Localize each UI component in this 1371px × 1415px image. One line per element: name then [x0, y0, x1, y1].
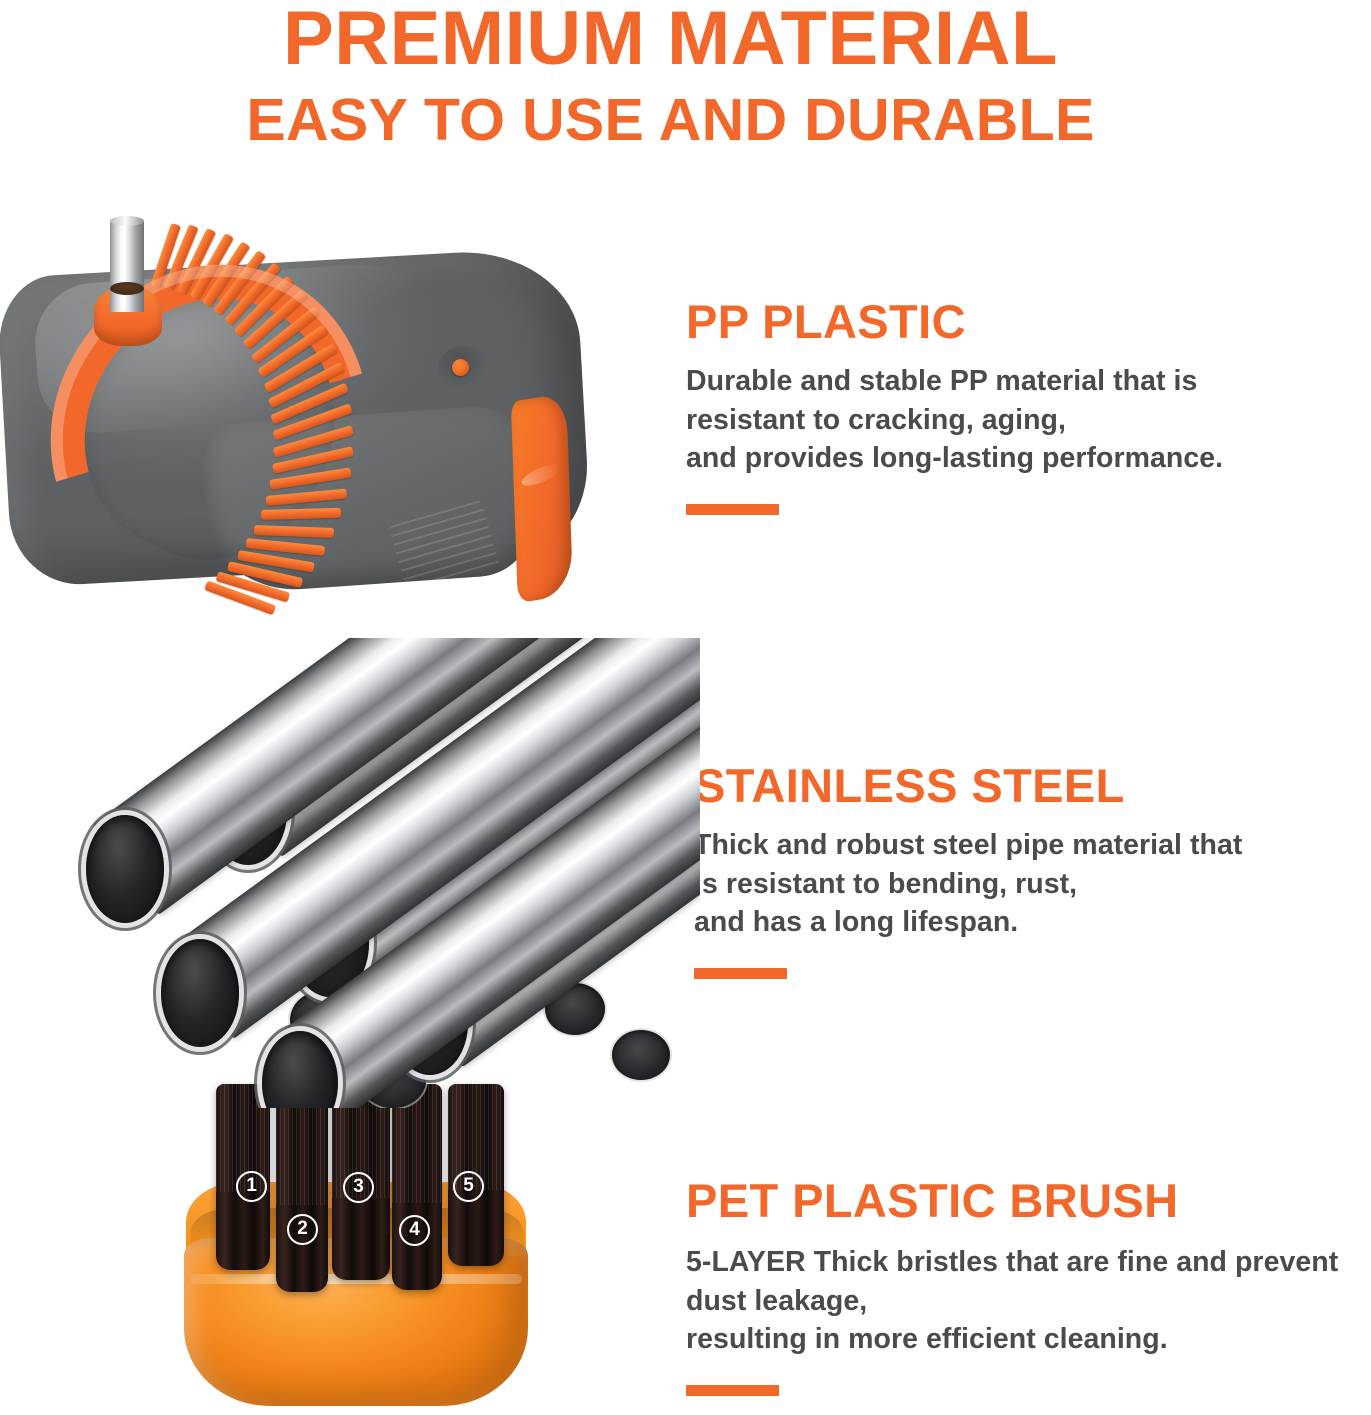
page-subtitle: EASY TO USE AND DURABLE — [0, 84, 1341, 156]
feature-copy-stainless-steel: STAINLESS STEEL Thick and robust steel p… — [694, 758, 1242, 979]
comb-tooth — [260, 508, 341, 520]
brush-layer-callout-5: 5 — [453, 1171, 484, 1202]
feature-body-line: resistant to cracking, aging, — [686, 401, 1223, 440]
brush-bristle-tuft — [276, 1084, 328, 1292]
accent-bar — [694, 968, 787, 979]
dustpan-broom-head-photo — [0, 220, 640, 620]
accent-bar — [686, 504, 779, 515]
dustpan-screw — [452, 359, 469, 376]
steel-handle-pole-cap — [110, 216, 144, 226]
accent-bar — [686, 1385, 779, 1396]
feature-copy-pp-plastic: PP PLASTIC Durable and stable PP materia… — [686, 294, 1223, 515]
comb-tooth — [265, 488, 347, 505]
steel-pipe-opening — [86, 815, 164, 923]
brush-layer-callout-2: 2 — [287, 1214, 318, 1245]
page-title: PREMIUM MATERIAL — [0, 0, 1341, 82]
pet-brush-bristles-photo: 12345 — [0, 1096, 640, 1415]
steel-handle-pole — [110, 220, 144, 312]
feature-body-line: is resistant to bending, rust, — [694, 865, 1242, 904]
feature-body-line: and provides long-lasting performance. — [686, 439, 1223, 478]
brush-layer-callout-1: 1 — [236, 1171, 267, 1202]
feature-title-pp-plastic: PP PLASTIC — [686, 294, 1223, 350]
steel-pipe-opening — [161, 939, 239, 1047]
feature-title-stainless-steel: STAINLESS STEEL — [694, 758, 1242, 814]
feature-row-stainless-steel: STAINLESS STEEL Thick and robust steel p… — [0, 626, 1371, 1096]
comb-tooth — [254, 525, 334, 538]
feature-copy-pet-plastic-brush: PET PLASTIC BRUSH 5-LAYER Thick bristles… — [686, 1173, 1338, 1396]
stainless-steel-pipes-photo — [0, 638, 700, 1108]
feature-row-pp-plastic: PP PLASTIC Durable and stable PP materia… — [0, 186, 1371, 626]
feature-title-pet-plastic-brush: PET PLASTIC BRUSH — [686, 1173, 1338, 1229]
feature-body-line: Thick and robust steel pipe material tha… — [694, 826, 1242, 865]
feature-body-line: resulting in more efficient cleaning. — [686, 1320, 1338, 1359]
dustpan-orange-edge — [511, 393, 573, 603]
feature-body-line: and has a long lifespan. — [694, 903, 1242, 942]
handle-collar-socket — [110, 282, 144, 295]
feature-body-line: Durable and stable PP material that is — [686, 362, 1223, 401]
infographic-page: PREMIUM MATERIAL EASY TO USE AND DURABLE — [0, 0, 1371, 1415]
header: PREMIUM MATERIAL EASY TO USE AND DURABLE — [0, 0, 1371, 178]
steel-pipe-inner-opening — [612, 1030, 670, 1080]
feature-body-line: dust leakage, — [686, 1282, 1338, 1321]
brush-layer-callout-3: 3 — [343, 1172, 374, 1203]
brush-layer-callout-4: 4 — [399, 1215, 430, 1246]
feature-body-line: 5-LAYER Thick bristles that are fine and… — [686, 1243, 1338, 1282]
feature-row-pet-plastic-brush: 12345 PET PLASTIC BRUSH 5-LAYER Thick br… — [0, 1096, 1371, 1415]
brush-bristle-tuft — [392, 1084, 442, 1290]
